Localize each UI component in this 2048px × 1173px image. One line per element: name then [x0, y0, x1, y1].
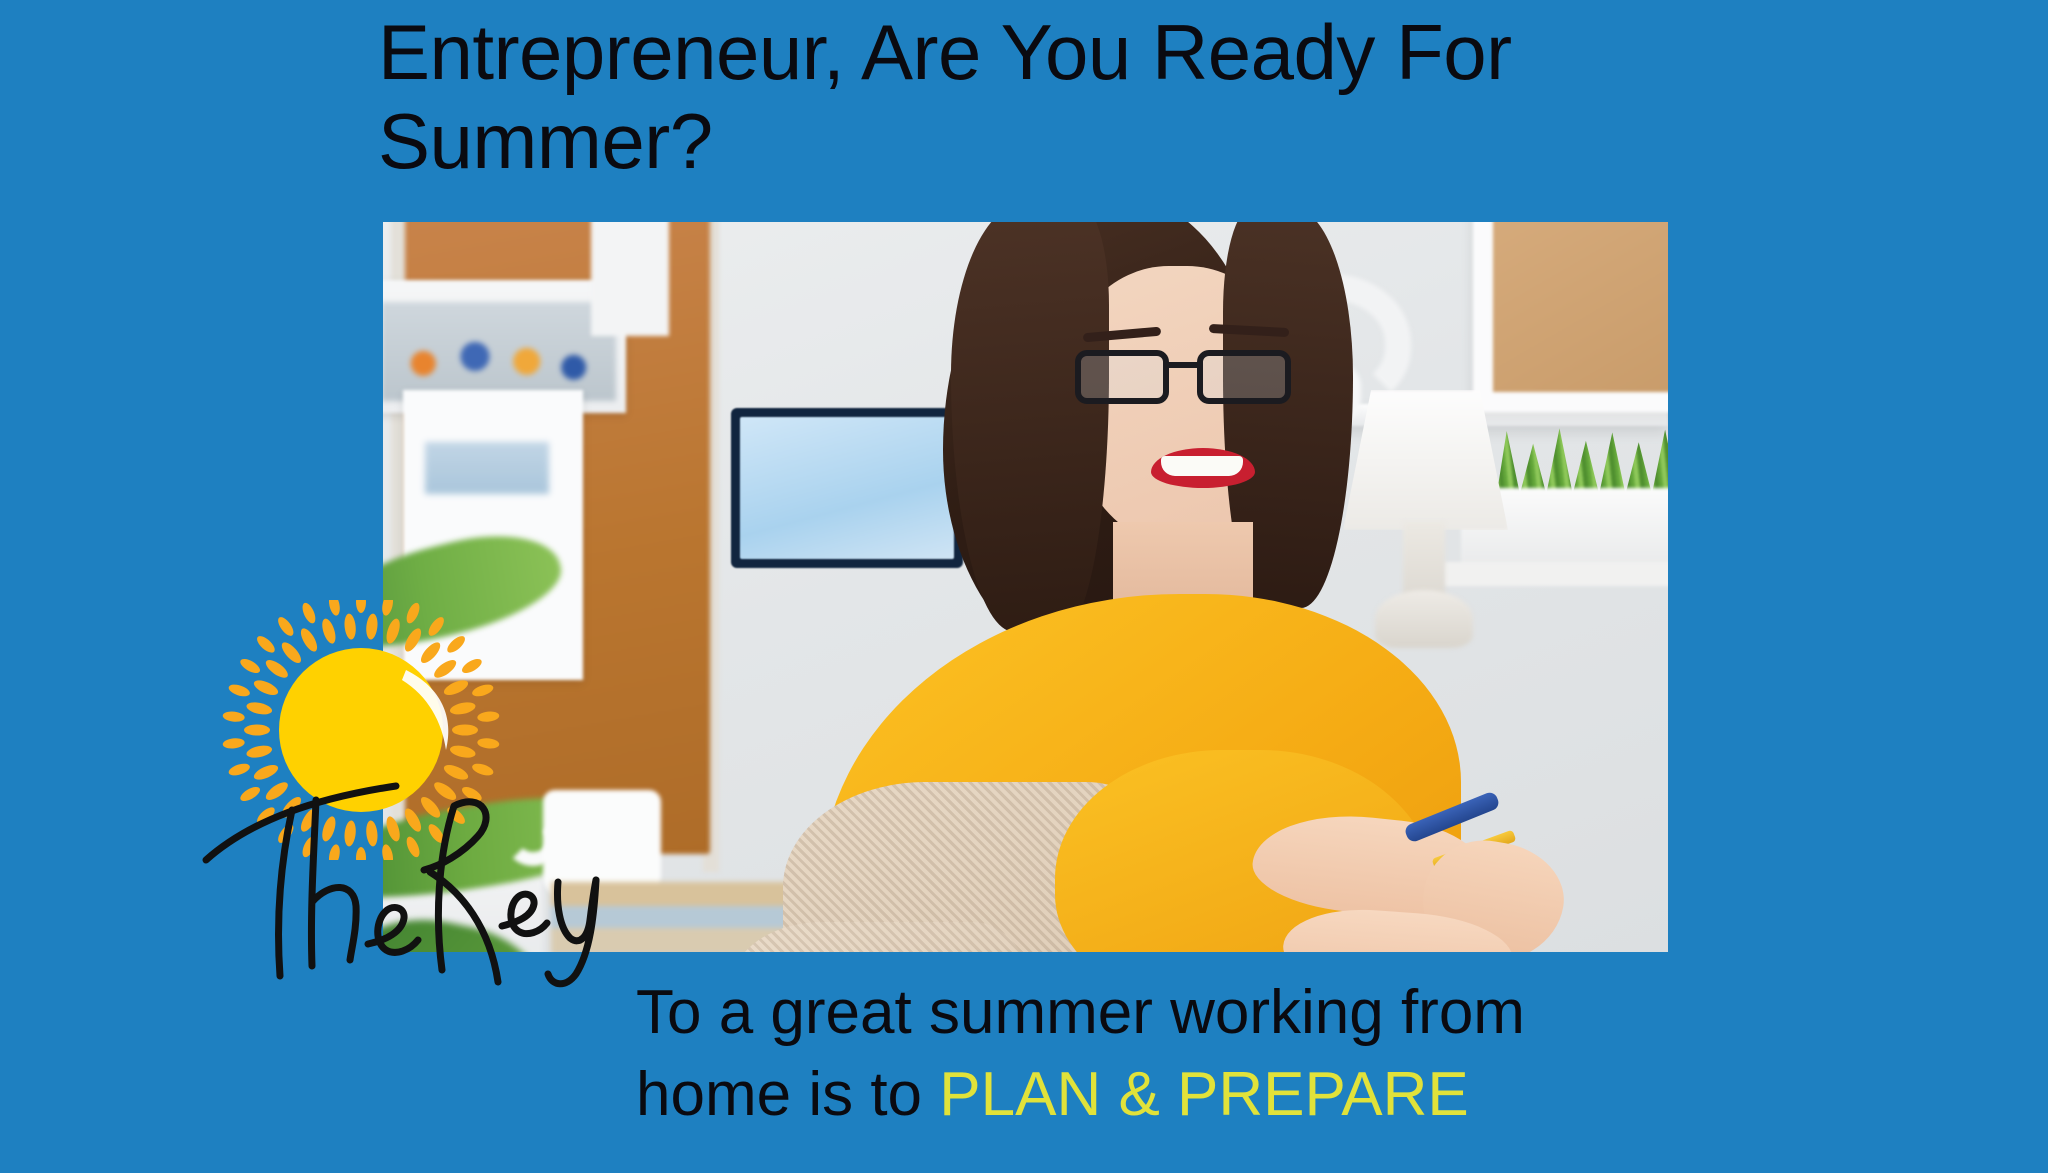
eyeglasses-icon	[1073, 350, 1299, 404]
monitor-screen	[740, 417, 954, 559]
caption-highlight: PLAN & PREPARE	[939, 1060, 1468, 1129]
planter-shelf	[1443, 562, 1668, 586]
woman-hair-left	[951, 222, 1109, 632]
poster-canvas: Entrepreneur, Are You Ready For Summer?	[0, 0, 2048, 1173]
table-lamp-base	[1375, 590, 1473, 648]
picture-frame	[1473, 222, 1668, 412]
eyeglass-lens-left	[1075, 350, 1169, 404]
headline-line-2: Summer?	[378, 97, 1558, 186]
hero-photo	[383, 222, 1668, 952]
caption-line-1: To a great summer working from	[636, 972, 1696, 1054]
caption-line-2-plain: home is to	[636, 1060, 939, 1129]
picture-frame-inner	[1493, 222, 1668, 392]
laptop-monitor	[731, 408, 963, 568]
photo-illustration	[383, 222, 1668, 952]
pinned-note	[591, 222, 669, 336]
table-lamp-shade	[1343, 390, 1508, 530]
page-title: Entrepreneur, Are You Ready For Summer?	[378, 8, 1558, 186]
caption: To a great summer working from home is t…	[636, 972, 1696, 1136]
woman-teeth	[1161, 456, 1243, 476]
eyeglass-lens-right	[1197, 350, 1291, 404]
caption-line-2: home is to PLAN & PREPARE	[636, 1054, 1696, 1136]
headline-line-1: Entrepreneur, Are You Ready For	[378, 8, 1558, 97]
